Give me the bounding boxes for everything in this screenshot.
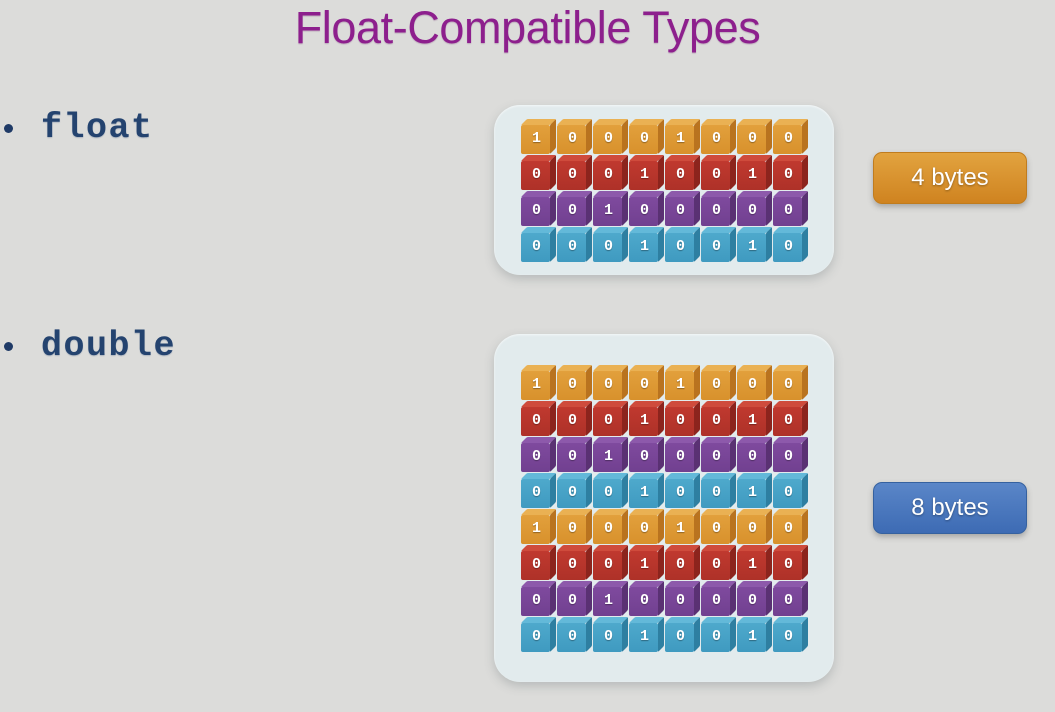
bit-digit: 0 bbox=[640, 449, 649, 464]
bit-cube: 0 bbox=[557, 155, 592, 190]
bit-cube: 0 bbox=[701, 365, 736, 400]
bullet-dot-icon bbox=[4, 124, 13, 133]
bit-digit: 1 bbox=[640, 629, 649, 644]
bit-cube: 1 bbox=[737, 401, 772, 436]
bit-digit: 0 bbox=[604, 239, 613, 254]
bit-digit: 1 bbox=[640, 557, 649, 572]
bit-cube: 0 bbox=[665, 401, 700, 436]
bit-digit: 0 bbox=[676, 413, 685, 428]
bit-cube: 0 bbox=[773, 365, 808, 400]
bit-digit: 0 bbox=[532, 449, 541, 464]
bit-cube: 0 bbox=[665, 545, 700, 580]
bit-cube: 0 bbox=[521, 617, 556, 652]
bit-digit: 0 bbox=[676, 239, 685, 254]
bit-digit: 1 bbox=[748, 629, 757, 644]
bit-cube: 1 bbox=[629, 227, 664, 262]
bit-cube: 0 bbox=[773, 191, 808, 226]
bit-cube: 0 bbox=[521, 473, 556, 508]
bullet-item-double: double bbox=[4, 326, 176, 366]
bit-cube: 0 bbox=[701, 617, 736, 652]
bit-cube: 0 bbox=[701, 155, 736, 190]
bit-cube: 0 bbox=[521, 227, 556, 262]
bit-row: 00100000 bbox=[521, 437, 808, 472]
bit-cube: 0 bbox=[629, 119, 664, 154]
bit-row: 00010010 bbox=[521, 617, 808, 652]
bit-cube: 0 bbox=[629, 581, 664, 616]
bit-grid-panel-double: 1000100000010010001000000001001010001000… bbox=[494, 334, 834, 682]
bit-cube: 0 bbox=[737, 437, 772, 472]
bit-cube: 0 bbox=[773, 581, 808, 616]
bit-row: 00010010 bbox=[521, 473, 808, 508]
bit-cube: 0 bbox=[557, 365, 592, 400]
bullet-label-double: double bbox=[41, 326, 176, 366]
bit-cube: 1 bbox=[521, 365, 556, 400]
bit-digit: 0 bbox=[532, 593, 541, 608]
bit-digit: 1 bbox=[676, 131, 685, 146]
bit-cube: 0 bbox=[737, 365, 772, 400]
bit-cube: 1 bbox=[521, 509, 556, 544]
bit-row: 00010010 bbox=[521, 227, 808, 262]
bit-cube: 0 bbox=[557, 437, 592, 472]
bit-cube: 0 bbox=[665, 227, 700, 262]
bit-digit: 0 bbox=[568, 521, 577, 536]
bit-digit: 1 bbox=[748, 485, 757, 500]
bit-digit: 1 bbox=[604, 449, 613, 464]
bit-digit: 1 bbox=[532, 521, 541, 536]
bit-cube: 0 bbox=[521, 545, 556, 580]
bit-digit: 1 bbox=[748, 239, 757, 254]
bit-cube: 0 bbox=[521, 155, 556, 190]
bit-digit: 0 bbox=[532, 413, 541, 428]
bit-digit: 0 bbox=[712, 377, 721, 392]
bit-digit: 0 bbox=[568, 557, 577, 572]
bit-digit: 0 bbox=[784, 557, 793, 572]
bit-cube: 0 bbox=[773, 437, 808, 472]
bit-cube: 0 bbox=[593, 401, 628, 436]
bit-cube: 1 bbox=[737, 473, 772, 508]
bit-row: 00100000 bbox=[521, 581, 808, 616]
bit-digit: 0 bbox=[712, 449, 721, 464]
bit-digit: 0 bbox=[532, 629, 541, 644]
bit-digit: 0 bbox=[712, 629, 721, 644]
bit-digit: 1 bbox=[532, 377, 541, 392]
bit-digit: 0 bbox=[676, 203, 685, 218]
bit-cube: 0 bbox=[521, 191, 556, 226]
bit-cube: 0 bbox=[737, 509, 772, 544]
bit-digit: 0 bbox=[784, 239, 793, 254]
bit-cube: 0 bbox=[557, 401, 592, 436]
bit-cube: 0 bbox=[557, 545, 592, 580]
bit-row: 00010010 bbox=[521, 401, 808, 436]
bit-digit: 1 bbox=[640, 485, 649, 500]
bit-digit: 0 bbox=[568, 449, 577, 464]
bit-digit: 0 bbox=[604, 557, 613, 572]
bit-digit: 0 bbox=[568, 203, 577, 218]
bit-cube: 1 bbox=[737, 545, 772, 580]
bit-cube: 1 bbox=[665, 509, 700, 544]
bit-cube: 0 bbox=[593, 227, 628, 262]
bit-digit: 0 bbox=[784, 629, 793, 644]
bit-cube: 0 bbox=[701, 191, 736, 226]
bit-digit: 0 bbox=[712, 167, 721, 182]
bit-digit: 0 bbox=[676, 557, 685, 572]
bit-cube: 0 bbox=[557, 473, 592, 508]
bit-cube: 1 bbox=[629, 617, 664, 652]
bit-cube: 0 bbox=[773, 617, 808, 652]
bit-digit: 0 bbox=[784, 449, 793, 464]
bit-digit: 1 bbox=[532, 131, 541, 146]
bit-cube: 0 bbox=[773, 545, 808, 580]
bit-digit: 0 bbox=[568, 377, 577, 392]
bit-cube: 0 bbox=[665, 437, 700, 472]
bit-cube: 0 bbox=[737, 119, 772, 154]
bit-cube: 0 bbox=[593, 617, 628, 652]
bit-cube: 0 bbox=[629, 437, 664, 472]
bit-cube: 0 bbox=[737, 191, 772, 226]
bit-cube: 1 bbox=[737, 155, 772, 190]
bit-digit: 0 bbox=[748, 203, 757, 218]
bit-cube: 0 bbox=[773, 119, 808, 154]
bit-cube: 0 bbox=[521, 581, 556, 616]
bit-digit: 0 bbox=[640, 593, 649, 608]
bit-row: 10001000 bbox=[521, 509, 808, 544]
bit-row: 10001000 bbox=[521, 119, 808, 154]
bit-digit: 0 bbox=[712, 485, 721, 500]
bit-cube: 1 bbox=[629, 545, 664, 580]
bit-digit: 0 bbox=[784, 521, 793, 536]
bit-cube: 0 bbox=[701, 473, 736, 508]
bit-digit: 0 bbox=[640, 521, 649, 536]
badge-float-size: 4 bytes bbox=[873, 152, 1027, 204]
bullet-label-float: float bbox=[41, 108, 154, 148]
page-title: Float-Compatible Types bbox=[0, 2, 1055, 54]
bit-digit: 0 bbox=[676, 167, 685, 182]
bit-digit: 0 bbox=[784, 485, 793, 500]
bit-row: 10001000 bbox=[521, 365, 808, 400]
bit-digit: 1 bbox=[604, 203, 613, 218]
bit-cube: 0 bbox=[665, 581, 700, 616]
bit-digit: 0 bbox=[604, 629, 613, 644]
bit-row: 00100000 bbox=[521, 191, 808, 226]
bit-cube: 0 bbox=[593, 509, 628, 544]
bit-cube: 0 bbox=[665, 155, 700, 190]
bit-digit: 0 bbox=[676, 449, 685, 464]
bit-digit: 0 bbox=[784, 593, 793, 608]
bit-digit: 1 bbox=[640, 239, 649, 254]
bit-digit: 0 bbox=[784, 377, 793, 392]
bit-row: 00010010 bbox=[521, 155, 808, 190]
bit-cube: 1 bbox=[593, 437, 628, 472]
bit-digit: 0 bbox=[568, 593, 577, 608]
bit-digit: 0 bbox=[784, 167, 793, 182]
bit-digit: 0 bbox=[568, 413, 577, 428]
bit-digit: 0 bbox=[784, 203, 793, 218]
bit-cube: 0 bbox=[773, 401, 808, 436]
bit-grid-double: 1000100000010010001000000001001010001000… bbox=[521, 365, 808, 652]
bit-digit: 1 bbox=[676, 377, 685, 392]
bullet-item-float: float bbox=[4, 108, 154, 148]
bit-cube: 1 bbox=[737, 617, 772, 652]
bit-digit: 0 bbox=[568, 131, 577, 146]
bit-cube: 0 bbox=[629, 509, 664, 544]
bit-digit: 0 bbox=[568, 629, 577, 644]
bit-cube: 0 bbox=[773, 227, 808, 262]
bit-cube: 0 bbox=[557, 509, 592, 544]
bit-cube: 0 bbox=[557, 119, 592, 154]
bit-digit: 1 bbox=[748, 413, 757, 428]
bit-cube: 0 bbox=[557, 227, 592, 262]
bit-digit: 0 bbox=[676, 629, 685, 644]
bit-digit: 0 bbox=[604, 131, 613, 146]
bit-grid-float: 10001000000100100010000000010010 bbox=[521, 119, 808, 262]
bit-cube: 1 bbox=[737, 227, 772, 262]
bit-digit: 0 bbox=[604, 521, 613, 536]
bit-cube: 0 bbox=[593, 155, 628, 190]
bit-digit: 1 bbox=[748, 557, 757, 572]
bit-digit: 0 bbox=[712, 593, 721, 608]
bit-digit: 0 bbox=[748, 521, 757, 536]
bit-digit: 0 bbox=[748, 449, 757, 464]
bit-digit: 0 bbox=[568, 485, 577, 500]
bit-cube: 1 bbox=[521, 119, 556, 154]
bit-cube: 0 bbox=[773, 155, 808, 190]
bit-cube: 1 bbox=[593, 581, 628, 616]
bit-cube: 0 bbox=[701, 437, 736, 472]
bit-cube: 0 bbox=[557, 581, 592, 616]
bit-cube: 0 bbox=[593, 545, 628, 580]
bit-cube: 0 bbox=[593, 473, 628, 508]
bit-digit: 0 bbox=[784, 131, 793, 146]
bit-cube: 1 bbox=[629, 473, 664, 508]
bit-cube: 0 bbox=[557, 617, 592, 652]
bit-digit: 0 bbox=[604, 413, 613, 428]
bit-cube: 0 bbox=[521, 437, 556, 472]
bit-digit: 0 bbox=[676, 485, 685, 500]
bit-digit: 1 bbox=[604, 593, 613, 608]
bullet-dot-icon bbox=[4, 342, 13, 351]
bit-cube: 0 bbox=[593, 365, 628, 400]
bit-digit: 0 bbox=[748, 593, 757, 608]
bit-digit: 0 bbox=[532, 485, 541, 500]
bit-digit: 0 bbox=[784, 413, 793, 428]
bit-digit: 0 bbox=[712, 239, 721, 254]
bit-cube: 0 bbox=[737, 581, 772, 616]
bit-digit: 0 bbox=[568, 239, 577, 254]
bit-digit: 0 bbox=[640, 203, 649, 218]
bit-cube: 1 bbox=[665, 365, 700, 400]
bit-digit: 0 bbox=[712, 521, 721, 536]
bit-digit: 0 bbox=[640, 377, 649, 392]
bit-digit: 0 bbox=[532, 203, 541, 218]
bit-cube: 0 bbox=[701, 545, 736, 580]
bit-cube: 0 bbox=[773, 509, 808, 544]
bit-digit: 0 bbox=[712, 413, 721, 428]
bit-cube: 1 bbox=[593, 191, 628, 226]
bit-digit: 0 bbox=[640, 131, 649, 146]
bit-cube: 0 bbox=[773, 473, 808, 508]
bit-cube: 0 bbox=[701, 119, 736, 154]
bit-cube: 0 bbox=[665, 191, 700, 226]
bit-cube: 0 bbox=[593, 119, 628, 154]
bit-cube: 0 bbox=[521, 401, 556, 436]
bit-digit: 0 bbox=[604, 167, 613, 182]
bit-digit: 0 bbox=[604, 485, 613, 500]
bit-cube: 0 bbox=[701, 227, 736, 262]
bit-cube: 0 bbox=[629, 191, 664, 226]
bit-cube: 1 bbox=[665, 119, 700, 154]
bit-digit: 0 bbox=[604, 377, 613, 392]
bit-digit: 0 bbox=[532, 239, 541, 254]
bit-cube: 0 bbox=[701, 509, 736, 544]
badge-double-size: 8 bytes bbox=[873, 482, 1027, 534]
bit-cube: 0 bbox=[665, 473, 700, 508]
bit-digit: 0 bbox=[532, 167, 541, 182]
bit-digit: 0 bbox=[712, 131, 721, 146]
bit-cube: 0 bbox=[665, 617, 700, 652]
bit-digit: 1 bbox=[676, 521, 685, 536]
bit-digit: 1 bbox=[640, 167, 649, 182]
bit-digit: 1 bbox=[640, 413, 649, 428]
bit-cube: 0 bbox=[629, 365, 664, 400]
bit-cube: 1 bbox=[629, 401, 664, 436]
bit-digit: 0 bbox=[676, 593, 685, 608]
bit-digit: 0 bbox=[532, 557, 541, 572]
bit-cube: 0 bbox=[701, 581, 736, 616]
bit-digit: 0 bbox=[712, 203, 721, 218]
bit-cube: 0 bbox=[701, 401, 736, 436]
bit-digit: 0 bbox=[712, 557, 721, 572]
bit-digit: 1 bbox=[748, 167, 757, 182]
bit-digit: 0 bbox=[748, 377, 757, 392]
bit-digit: 0 bbox=[748, 131, 757, 146]
bit-row: 00010010 bbox=[521, 545, 808, 580]
bit-cube: 1 bbox=[629, 155, 664, 190]
bit-digit: 0 bbox=[568, 167, 577, 182]
bit-cube: 0 bbox=[557, 191, 592, 226]
bit-grid-panel-float: 10001000000100100010000000010010 bbox=[494, 105, 834, 275]
